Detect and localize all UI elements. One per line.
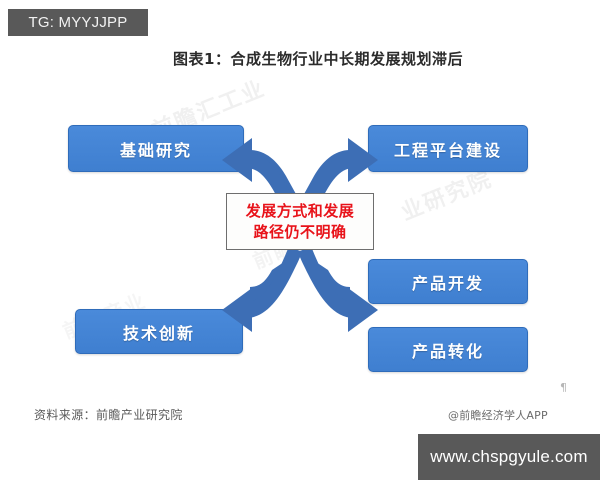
- figure-canvas: 前瞻汇工业 业研究院 前瞻研究 前瞻产业 TG: MYYJJPP 图表1：合成生…: [0, 0, 600, 480]
- arrow-lower-right: [298, 250, 372, 327]
- node-label: 产品开发: [412, 270, 484, 294]
- source-note: 资料来源：前瞻产业研究院: [34, 406, 183, 423]
- app-credit: @前瞻经济学人APP: [448, 407, 548, 423]
- callout-line-1: 发展方式和发展: [246, 201, 355, 222]
- site-watermark-label: www.chspgyule.com: [430, 447, 587, 467]
- arrow-ribbon-bottom: [246, 246, 354, 318]
- node-product-transformation[interactable]: 产品转化: [368, 327, 528, 372]
- node-basic-research[interactable]: 基础研究: [68, 125, 244, 172]
- node-label: 工程平台建设: [394, 137, 502, 161]
- center-callout-box: 发展方式和发展 路径仍不明确: [226, 193, 374, 250]
- node-product-development[interactable]: 产品开发: [368, 259, 528, 304]
- node-label: 产品转化: [412, 338, 484, 362]
- node-label: 基础研究: [120, 137, 192, 161]
- callout-line-2: 路径仍不明确: [253, 222, 346, 243]
- telegram-badge-label: TG: MYYJJPP: [29, 14, 128, 31]
- node-engineering-platform[interactable]: 工程平台建设: [368, 125, 528, 172]
- telegram-badge: TG: MYYJJPP: [8, 9, 148, 36]
- node-technology-innovation[interactable]: 技术创新: [75, 309, 243, 354]
- pilcrow-mark: ¶: [560, 381, 567, 394]
- page-title: 图表1：合成生物行业中长期发展规划滞后: [0, 48, 600, 69]
- site-watermark: www.chspgyule.com: [418, 434, 600, 480]
- node-label: 技术创新: [123, 320, 195, 344]
